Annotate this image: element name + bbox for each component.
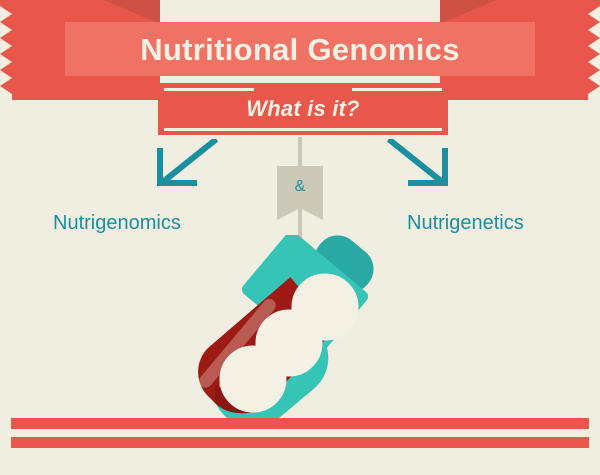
subtitle-rule-bottom [164,128,442,131]
ampersand-symbol: & [295,179,306,195]
page-title: Nutritional Genomics [140,34,459,65]
title-banner: Nutritional Genomics [65,22,535,76]
arrow-down-left-icon [150,139,220,189]
test-tube-illustration [195,235,405,425]
footer-bar-bottom [11,437,589,448]
branch-label-right: Nutrigenetics [407,213,524,233]
subtitle-banner: What is it? [158,83,448,135]
footer-bar-top [11,418,589,429]
branch-label-left: Nutrigenomics [53,213,181,233]
dna-circle [222,348,284,410]
infographic-canvas: Nutritional Genomics What is it? & Nutri… [0,0,600,475]
arrow-down-right-icon [385,139,455,189]
ampersand-flag-label-wrap: & [277,166,323,220]
